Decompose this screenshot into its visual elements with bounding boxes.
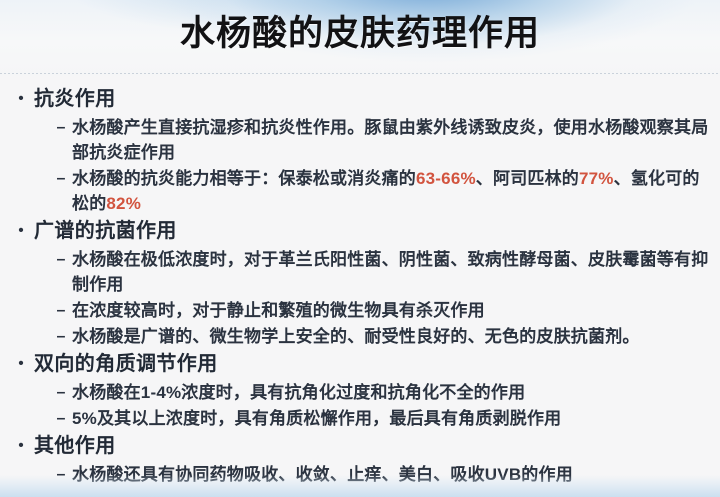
bullet-dash-icon: – <box>50 324 72 349</box>
outline-section: •双向的角质调节作用–水杨酸在1-4%浓度时，具有抗角化过度和抗角化不全的作用–… <box>8 350 712 431</box>
outline-bullet-text: 水杨酸产生直接抗湿疹和抗炎性作用。豚鼠由紫外线诱致皮炎，使用水杨酸观察其局部抗炎… <box>72 115 710 165</box>
outline-heading-text: 其他作用 <box>34 432 116 460</box>
highlighted-value: 63-66% <box>416 169 476 188</box>
presentation-slide: 水杨酸的皮肤药理作用 •抗炎作用–水杨酸产生直接抗湿疹和抗炎性作用。豚鼠由紫外线… <box>0 0 720 497</box>
slide-body: •抗炎作用–水杨酸产生直接抗湿疹和抗炎性作用。豚鼠由紫外线诱致皮炎，使用水杨酸观… <box>0 76 720 487</box>
outline-heading-row: •抗炎作用 <box>8 85 712 113</box>
bullet-dot-icon: • <box>8 85 34 113</box>
outline-bullet-row: –5%及其以上浓度时，具有角质松懈作用，最后具有角质剥脱作用 <box>8 406 712 431</box>
bullet-dash-icon: – <box>50 298 72 323</box>
bullet-dash-icon: – <box>50 406 72 431</box>
body-text-fragment: 水杨酸在1-4%浓度时，具有抗角化过度和抗角化不全的作用 <box>72 383 525 402</box>
bullet-dash-icon: – <box>50 247 72 272</box>
highlighted-value: 77% <box>579 169 614 188</box>
highlighted-value: 82% <box>106 194 141 213</box>
body-text-fragment: 、阿司匹林的 <box>476 169 579 188</box>
outline-bullet-row: –水杨酸在1-4%浓度时，具有抗角化过度和抗角化不全的作用 <box>8 380 712 405</box>
outline-bullet-text: 在浓度较高时，对于静止和繁殖的微生物具有杀灭作用 <box>72 298 485 323</box>
outline-bullet-text: 水杨酸是广谱的、微生物学上安全的、耐受性良好的、无色的皮肤抗菌剂。 <box>72 324 640 349</box>
outline-section: •其他作用–水杨酸还具有协同药物吸收、收敛、止痒、美白、吸收UVB的作用 <box>8 432 712 487</box>
bullet-dash-icon: – <box>50 166 72 191</box>
bullet-dot-icon: • <box>8 350 34 378</box>
outline-heading-row: •双向的角质调节作用 <box>8 350 712 378</box>
bullet-dot-icon: • <box>8 217 34 245</box>
body-text-fragment: 水杨酸在极低浓度时，对于革兰氏阳性菌、阴性菌、致病性酵母菌、皮肤霉菌等有抑制作用 <box>72 250 708 294</box>
body-text-fragment: 水杨酸是广谱的、微生物学上安全的、耐受性良好的、无色的皮肤抗菌剂。 <box>72 327 640 346</box>
outline-bullet-text: 水杨酸在1-4%浓度时，具有抗角化过度和抗角化不全的作用 <box>72 380 525 405</box>
outline-section: •广谱的抗菌作用–水杨酸在极低浓度时，对于革兰氏阳性菌、阴性菌、致病性酵母菌、皮… <box>8 217 712 349</box>
body-text-fragment: 水杨酸还具有协同药物吸收、收敛、止痒、美白、吸收UVB的作用 <box>72 465 573 484</box>
bullet-dash-icon: – <box>50 462 72 487</box>
bullet-dash-icon: – <box>50 380 72 405</box>
outline-bullet-text: 水杨酸的抗炎能力相等于：保泰松或消炎痛的63-66%、阿司匹林的77%、氢化可的… <box>72 166 710 216</box>
outline-heading-text: 双向的角质调节作用 <box>34 350 218 378</box>
header-divider <box>0 73 720 74</box>
outline-heading-text: 广谱的抗菌作用 <box>34 217 177 245</box>
outline-bullet-row: –水杨酸在极低浓度时，对于革兰氏阳性菌、阴性菌、致病性酵母菌、皮肤霉菌等有抑制作… <box>8 247 712 297</box>
outline-heading-text: 抗炎作用 <box>34 85 116 113</box>
bullet-dash-icon: – <box>50 115 72 140</box>
outline-bullet-row: –水杨酸的抗炎能力相等于：保泰松或消炎痛的63-66%、阿司匹林的77%、氢化可… <box>8 166 712 216</box>
outline-bullet-text: 5%及其以上浓度时，具有角质松懈作用，最后具有角质剥脱作用 <box>72 406 561 431</box>
body-text-fragment: 水杨酸的抗炎能力相等于：保泰松或消炎痛的 <box>72 169 416 188</box>
body-text-fragment: 水杨酸产生直接抗湿疹和抗炎性作用。豚鼠由紫外线诱致皮炎，使用水杨酸观察其局部抗炎… <box>72 118 708 162</box>
bullet-dot-icon: • <box>8 432 34 460</box>
outline-heading-row: •其他作用 <box>8 432 712 460</box>
outline-bullet-text: 水杨酸还具有协同药物吸收、收敛、止痒、美白、吸收UVB的作用 <box>72 462 573 487</box>
outline-bullet-row: –水杨酸是广谱的、微生物学上安全的、耐受性良好的、无色的皮肤抗菌剂。 <box>8 324 712 349</box>
outline-bullet-row: –水杨酸产生直接抗湿疹和抗炎性作用。豚鼠由紫外线诱致皮炎，使用水杨酸观察其局部抗… <box>8 115 712 165</box>
outline-bullet-row: –水杨酸还具有协同药物吸收、收敛、止痒、美白、吸收UVB的作用 <box>8 462 712 487</box>
outline-section: •抗炎作用–水杨酸产生直接抗湿疹和抗炎性作用。豚鼠由紫外线诱致皮炎，使用水杨酸观… <box>8 85 712 216</box>
slide-header-banner: 水杨酸的皮肤药理作用 <box>0 0 720 76</box>
body-text-fragment: 在浓度较高时，对于静止和繁殖的微生物具有杀灭作用 <box>72 301 485 320</box>
outline-heading-row: •广谱的抗菌作用 <box>8 217 712 245</box>
body-text-fragment: 5%及其以上浓度时，具有角质松懈作用，最后具有角质剥脱作用 <box>72 409 561 428</box>
outline-bullet-text: 水杨酸在极低浓度时，对于革兰氏阳性菌、阴性菌、致病性酵母菌、皮肤霉菌等有抑制作用 <box>72 247 710 297</box>
outline-bullet-row: –在浓度较高时，对于静止和繁殖的微生物具有杀灭作用 <box>8 298 712 323</box>
slide-title: 水杨酸的皮肤药理作用 <box>0 12 720 56</box>
